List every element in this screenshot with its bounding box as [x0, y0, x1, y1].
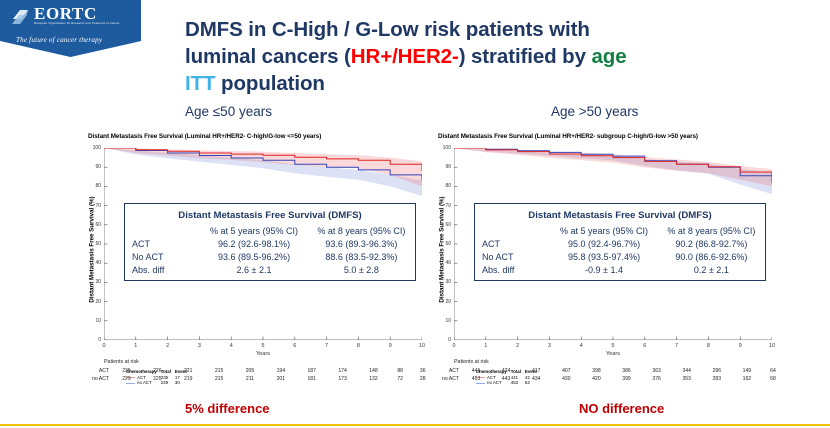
y-tick: 60: [95, 222, 101, 228]
y-tick: 30: [445, 279, 451, 285]
x-tick: 8: [357, 343, 360, 349]
stats-corner-cell: [475, 225, 550, 238]
x-tick: 2: [516, 343, 519, 349]
y-tick: 10: [445, 318, 451, 324]
x-tick: 0: [103, 343, 106, 349]
row-label-no-act: No ACT: [125, 251, 200, 264]
at-risk-value: 363: [642, 367, 672, 375]
table-row: ACT 95.0 (92.4-96.7%) 90.2 (86.8-92.7%): [475, 238, 765, 251]
y-tick: 40: [95, 260, 101, 266]
conclusion-age-le-50: 5% difference: [185, 401, 270, 416]
at-risk-value: 221: [173, 367, 204, 375]
at-risk-value: 149: [732, 367, 762, 375]
row-label-act: ACT: [475, 238, 550, 251]
title-stratifier-age: age: [592, 45, 627, 68]
chart-title: Distant Metastasis Free Survival (Lumina…: [438, 133, 698, 140]
x-axis-title: Years: [256, 351, 270, 357]
title-line-1: DMFS in C-High / G-Low risk patients wit…: [185, 18, 590, 41]
at-risk-label-act: ACT: [82, 367, 111, 375]
at-risk-row-act: ACT 441 424 417 407 398 386 363 344 286 …: [432, 367, 784, 375]
at-risk-value: 453: [461, 375, 491, 383]
at-risk-value: 417: [521, 367, 551, 375]
km-chart-age-gt-50: Distant Metastasis Free Survival (Lumina…: [428, 131, 786, 396]
abs-diff-8yr-value: 0.2 ± 2.1: [658, 263, 765, 276]
eortc-emblem-icon: [9, 6, 32, 29]
stats-table-title: Distant Metastasis Free Survival (DMFS): [475, 210, 765, 221]
logo-row: EORTC European Organisation for Research…: [9, 6, 120, 29]
at-risk-value: 430: [551, 375, 581, 383]
stats-corner-cell: [125, 225, 200, 238]
row-label-no-act: No ACT: [475, 251, 550, 264]
dmfs-stats-table: Distant Metastasis Free Survival (DMFS) …: [474, 203, 766, 281]
brand-name: EORTC: [34, 6, 120, 21]
table-row: Abs. diff -0.9 ± 1.4 0.2 ± 2.1: [475, 263, 765, 276]
y-tick: 40: [445, 260, 451, 266]
table-row: No ACT 95.8 (93.5-97.4%) 90.0 (86.6-92.6…: [475, 251, 765, 264]
title-line-3-suffix: population: [215, 72, 324, 95]
at-risk-value: 399: [611, 375, 641, 383]
x-tick: 2: [166, 343, 169, 349]
at-risk-value: 420: [581, 375, 611, 383]
y-axis-title: Distant Metastasis Free Survival (%): [89, 180, 96, 320]
x-tick: 5: [612, 343, 615, 349]
row-label-abs-diff: Abs. diff: [475, 263, 550, 276]
table-row: No ACT 93.6 (89.5-96.2%) 88.6 (83.5-92.3…: [125, 251, 415, 264]
at-risk-value: 173: [327, 375, 358, 383]
y-tick: 90: [95, 164, 101, 170]
at-risk-value: 353: [672, 375, 702, 383]
x-tick: 6: [643, 343, 646, 349]
at-risk-label-no-act: no ACT: [82, 375, 111, 383]
conclusion-age-gt-50: NO difference: [579, 401, 664, 416]
x-tick: 0: [453, 343, 456, 349]
y-tick: 30: [95, 279, 101, 285]
at-risk-value: 235: [111, 367, 142, 375]
y-tick: 70: [95, 203, 101, 209]
km-chart-age-le-50: Distant Metastasis Free Survival (Lumina…: [78, 131, 436, 396]
x-tick: 10: [419, 343, 425, 349]
act-8yr-value: 90.2 (86.8-92.7%): [658, 238, 765, 251]
y-tick: 100: [443, 145, 451, 151]
table-row: Abs. diff 2.6 ± 2.1 5.0 ± 2.8: [125, 263, 415, 276]
at-risk-value: 229: [111, 375, 142, 383]
abs-diff-8yr-value: 5.0 ± 2.8: [308, 263, 415, 276]
x-tick: 5: [262, 343, 265, 349]
at-risk-label-act: ACT: [432, 367, 461, 375]
at-risk-value: 283: [702, 375, 732, 383]
y-tick: 80: [445, 183, 451, 189]
at-risk-value: 441: [461, 367, 491, 375]
brand-subtitle: European Organisation for Research and T…: [34, 22, 120, 26]
y-tick: 70: [445, 203, 451, 209]
y-tick: 90: [445, 164, 451, 170]
table-row: ACT 96.2 (92.6-98.1%) 93.6 (89.3-96.3%): [125, 238, 415, 251]
slide-title: DMFS in C-High / G-Low risk patients wit…: [185, 16, 815, 97]
at-risk-row-act: ACT 235 226 221 215 205 194 187 174 148 …: [82, 367, 434, 375]
logo-text-block: EORTC European Organisation for Research…: [34, 6, 120, 26]
no-act-5yr-value: 93.6 (89.5-96.2%): [200, 251, 307, 264]
x-tick: 7: [675, 343, 678, 349]
at-risk-value: 174: [327, 367, 358, 375]
at-risk-title: Patients at risk: [454, 359, 784, 365]
eortc-logo-banner: EORTC European Organisation for Research…: [0, 0, 141, 57]
at-risk-value: 376: [642, 375, 672, 383]
abs-diff-5yr-value: -0.9 ± 1.4: [550, 263, 657, 276]
y-tick: 50: [445, 241, 451, 247]
act-8yr-value: 93.6 (89.3-96.3%): [308, 238, 415, 251]
x-tick: 7: [325, 343, 328, 349]
x-tick: 10: [769, 343, 775, 349]
x-tick: 3: [198, 343, 201, 349]
table-header-row: % at 5 years (95% CI) % at 8 years (95% …: [125, 225, 415, 238]
dmfs-stats-table: Distant Metastasis Free Survival (DMFS) …: [124, 203, 416, 281]
at-risk-value: 226: [142, 367, 173, 375]
at-risk-value: 201: [265, 375, 296, 383]
at-risk-value: 88: [389, 367, 412, 375]
at-risk-value: 72: [389, 375, 412, 383]
col-header-5-years: % at 5 years (95% CI): [200, 225, 307, 238]
x-axis-title: Years: [606, 351, 620, 357]
x-tick: 4: [580, 343, 583, 349]
x-tick: 9: [389, 343, 392, 349]
title-line-2-prefix: luminal cancers (: [185, 45, 351, 68]
y-tick: 0: [98, 337, 101, 343]
act-5yr-value: 96.2 (92.6-98.1%): [200, 238, 307, 251]
at-risk-value: 443: [491, 375, 521, 383]
at-risk-value: 211: [235, 375, 266, 383]
y-tick: 10: [95, 318, 101, 324]
col-header-5-years: % at 5 years (95% CI): [550, 225, 657, 238]
at-risk-value: 219: [173, 375, 204, 383]
at-risk-value: 132: [358, 375, 389, 383]
at-risk-value: 187: [296, 367, 327, 375]
y-tick: 80: [95, 183, 101, 189]
row-label-abs-diff: Abs. diff: [125, 263, 200, 276]
bottom-accent-rule: [0, 424, 830, 426]
at-risk-value: 205: [235, 367, 266, 375]
at-risk-value: 434: [521, 375, 551, 383]
at-risk-value: 148: [358, 367, 389, 375]
no-act-8yr-value: 88.6 (83.5-92.3%): [308, 251, 415, 264]
col-header-8-years: % at 8 years (95% CI): [658, 225, 765, 238]
y-tick: 50: [95, 241, 101, 247]
table-header-row: % at 5 years (95% CI) % at 8 years (95% …: [475, 225, 765, 238]
abs-diff-5yr-value: 2.6 ± 2.1: [200, 263, 307, 276]
at-risk-value: 424: [491, 367, 521, 375]
y-tick: 100: [93, 145, 101, 151]
at-risk-value: 162: [732, 375, 762, 383]
at-risk-value: 215: [204, 375, 235, 383]
at-risk-row-no-act: no ACT 453 443 434 430 420 399 376 353 2…: [432, 375, 784, 383]
at-risk-value: 68: [762, 375, 784, 383]
x-tick: 4: [230, 343, 233, 349]
at-risk-value: 64: [762, 367, 784, 375]
x-tick: 8: [707, 343, 710, 349]
y-tick: 20: [445, 299, 451, 305]
x-tick: 1: [134, 343, 137, 349]
patients-at-risk-table: Patients at risk ACT 441 424 417 407 398…: [432, 359, 784, 383]
y-tick: 20: [95, 299, 101, 305]
no-act-8yr-value: 90.0 (86.6-92.6%): [658, 251, 765, 264]
at-risk-value: 407: [551, 367, 581, 375]
at-risk-value: 386: [611, 367, 641, 375]
at-risk-value: 215: [204, 367, 235, 375]
title-line-2-suffix: ) stratified by: [459, 45, 592, 68]
chart-title: Distant Metastasis Free Survival (Lumina…: [88, 133, 321, 140]
act-5yr-value: 95.0 (92.4-96.7%): [550, 238, 657, 251]
panel-header-age-le-50: Age ≤50 years: [185, 104, 272, 119]
no-act-5yr-value: 95.8 (93.5-97.4%): [550, 251, 657, 264]
x-tick: 3: [548, 343, 551, 349]
title-population-itt: ITT: [185, 72, 215, 95]
patients-at-risk-table: Patients at risk ACT 235 226 221 215 205…: [82, 359, 434, 383]
at-risk-value: 344: [672, 367, 702, 375]
x-tick: 1: [484, 343, 487, 349]
row-label-act: ACT: [125, 238, 200, 251]
y-axis-title: Distant Metastasis Free Survival (%): [439, 180, 446, 320]
at-risk-value: 181: [296, 375, 327, 383]
no-act-line-swatch-icon: [476, 383, 485, 384]
at-risk-value: 398: [581, 367, 611, 375]
x-tick: 6: [293, 343, 296, 349]
y-tick: 60: [445, 222, 451, 228]
y-tick: 0: [448, 337, 451, 343]
no-act-line-swatch-icon: [126, 383, 135, 384]
brand-tagline: The future of cancer therapy: [16, 36, 102, 44]
at-risk-title: Patients at risk: [104, 359, 434, 365]
title-biomarker-hr-her2: HR+/HER2-: [351, 45, 459, 68]
stats-table-title: Distant Metastasis Free Survival (DMFS): [125, 210, 415, 221]
x-tick: 9: [739, 343, 742, 349]
at-risk-value: 225: [142, 375, 173, 383]
at-risk-value: 194: [265, 367, 296, 375]
at-risk-label-no-act: no ACT: [432, 375, 461, 383]
at-risk-value: 286: [702, 367, 732, 375]
col-header-8-years: % at 8 years (95% CI): [308, 225, 415, 238]
panel-header-age-gt-50: Age >50 years: [551, 104, 638, 119]
at-risk-row-no-act: no ACT 229 225 219 215 211 201 181 173 1…: [82, 375, 434, 383]
